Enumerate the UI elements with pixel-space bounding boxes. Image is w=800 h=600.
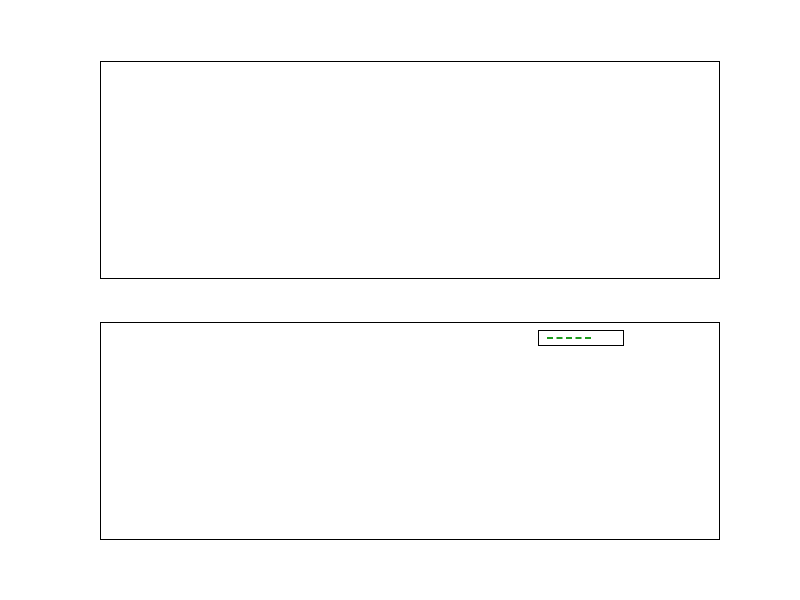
histogram-plot-area [101, 62, 719, 278]
cumulative-plot-area [101, 323, 719, 539]
mag-limit-vline [101, 323, 719, 539]
legend-box[interactable] [538, 330, 624, 346]
figure-canvas [0, 0, 800, 600]
top-axes-differential-histogram [100, 61, 720, 279]
bottom-axes-cumulative-histogram [100, 322, 720, 540]
legend-dashed-line-icon [547, 337, 591, 339]
